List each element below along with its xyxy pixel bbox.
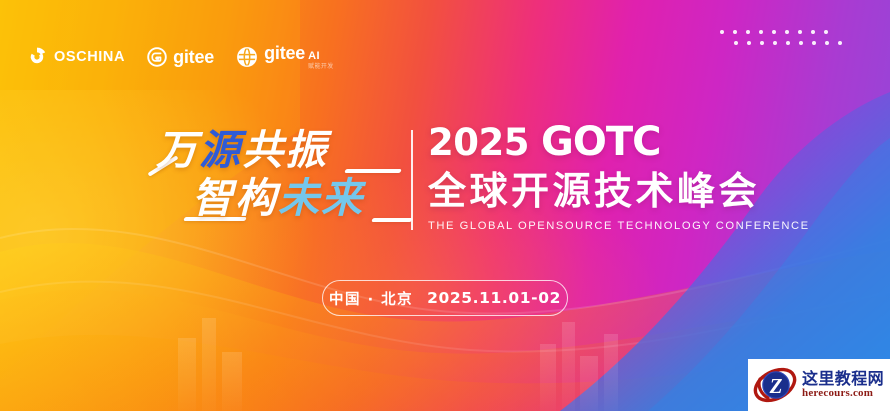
gitee-ai-suffix: AI [308,51,320,62]
gitee-label: gitee [173,47,214,68]
slogan-line-1: 万源共振 [156,130,328,171]
chinese-slogan: 万源共振 智构未来 [150,122,400,234]
logo-gitee[interactable]: gitee [147,44,214,70]
conference-title: 2025 GOTC 全球开源技术峰会 THE GLOBAL OPENSOURCE… [428,122,788,232]
dot-row [720,30,872,34]
gitee-ai-globe-icon [236,46,258,68]
dot [838,41,842,45]
slogan-line2-part1: 智构 [192,174,278,222]
title-area: 万源共振 智构未来 2025 GOTC 全球开源技术峰会 THE GLOBAL … [0,122,890,244]
gotc-line: 2025 GOTC [428,122,788,166]
watermark-site-name-cn: 这里教程网 [802,370,884,387]
gitee-ai-label: gitee [264,44,305,62]
dot [799,41,803,45]
slogan-line2-part2: 未来 [278,174,364,222]
oschina-label: OSCHINA [54,49,125,65]
slogan-line1-part3: 共振 [242,126,328,174]
conference-acronym: GOTC [541,122,660,162]
gitee-g-icon [147,47,167,67]
event-location: 中国 · 北京 [329,288,413,309]
slogan-line1-part2: 源 [199,126,242,174]
slogan-swoosh [344,169,402,173]
dot [785,30,789,34]
z-glyph: Z [769,374,783,398]
gitee-ai-subtitle: 赋能开发 [308,64,334,70]
dot [734,41,738,45]
conference-name-en: THE GLOBAL OPENSOURCE TECHNOLOGY CONFERE… [428,220,788,232]
dot [747,41,751,45]
oschina-c-icon [26,46,48,68]
conference-name-cn: 全球开源技术峰会 [428,172,788,210]
title-divider [411,130,413,230]
dot [786,41,790,45]
logo-oschina[interactable]: OSCHINA [26,44,125,70]
dot [720,30,724,34]
date-location-pill: 中国 · 北京 2025.11.01-02 [322,280,568,316]
dot [733,30,737,34]
watermark-site-domain: herecours.com [802,388,884,400]
dot [812,41,816,45]
dot-grid-decoration [720,30,872,52]
dot [773,41,777,45]
dot [798,30,802,34]
skyline-bars [178,318,618,411]
dot [811,30,815,34]
slogan-line1-part1: 万 [156,126,199,174]
conference-year: 2025 [428,124,529,161]
dot [759,30,763,34]
site-watermark: Z 这里教程网 herecours.com [748,359,890,411]
logo-gitee-ai[interactable]: gitee AI 赋能开发 [236,44,334,70]
slogan-line-2: 智构未来 [192,178,364,219]
dot [760,41,764,45]
dot [825,41,829,45]
herecours-z-logo-icon: Z [752,363,798,407]
gotc-conference-banner: OSCHINA gitee gitee [0,0,890,411]
dot-row [734,41,872,45]
dot [772,30,776,34]
slogan-swoosh [371,218,413,222]
dot [746,30,750,34]
event-date: 2025.11.01-02 [427,289,561,307]
logo-bar: OSCHINA gitee gitee [26,43,334,71]
dot [824,30,828,34]
